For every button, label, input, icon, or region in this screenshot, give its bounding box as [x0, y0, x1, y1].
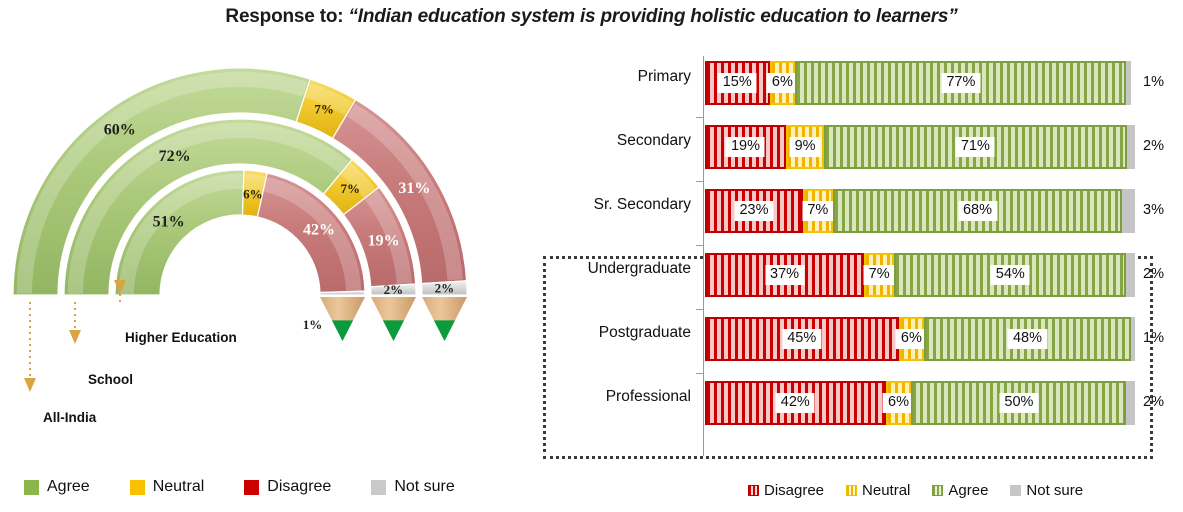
segment-agree: 71%: [824, 125, 1126, 169]
legend-item[interactable]: Agree: [932, 482, 988, 499]
segment-value: 9%: [790, 137, 821, 157]
not-sure-value: 2%: [1143, 394, 1164, 410]
segment-agree: 54%: [894, 253, 1126, 297]
segment-agree: 68%: [833, 189, 1122, 233]
page-title: Response to: “Indian education system is…: [0, 6, 1183, 28]
arc-segment-label: 2%: [384, 282, 404, 297]
not-sure-value: 3%: [1143, 202, 1164, 218]
legend-item[interactable]: Neutral: [130, 478, 205, 496]
segment-agree: 77%: [795, 61, 1126, 105]
legend-item[interactable]: Agree: [24, 478, 90, 496]
segment-neutral: 9%: [786, 125, 824, 169]
not-sure-value: 1%: [1143, 330, 1164, 346]
segment-value: 6%: [883, 393, 914, 413]
segment-disagree: 19%: [705, 125, 786, 169]
pencil-lead: [383, 320, 404, 341]
segment-value: 68%: [958, 201, 997, 221]
bar-row: Postgraduate45%6%48%1%: [543, 308, 1183, 370]
legend-item[interactable]: Not sure: [371, 478, 454, 496]
pencil-lead: [434, 320, 455, 341]
bar-row: Secondary19%9%71%2%: [543, 116, 1183, 178]
title-quote: “Indian education system is providing ho…: [348, 6, 957, 27]
segment-disagree: 15%: [705, 61, 770, 105]
segment-value: 15%: [718, 73, 757, 93]
legend-arc-chart: AgreeNeutralDisagreeNot sure: [24, 478, 495, 496]
arc-segment-label: 19%: [368, 233, 400, 250]
segment-agree: 50%: [911, 381, 1126, 425]
segment-value: 45%: [782, 329, 821, 349]
callout-higher-education: Higher Education: [125, 330, 237, 345]
arc-segment-label: 72%: [159, 148, 191, 165]
segment-value: 48%: [1008, 329, 1047, 349]
legend-swatch-icon: [371, 480, 386, 495]
segment-neutral: 7%: [864, 253, 894, 297]
segment-neutral: 7%: [803, 189, 833, 233]
axis-tick: [696, 245, 704, 246]
bar-chart: Primary15%6%77%1%Secondary19%9%71%2%Sr. …: [543, 52, 1183, 462]
segment-neutral: 6%: [886, 381, 912, 425]
arc-segment-label: 51%: [153, 213, 185, 230]
bar-row: Primary15%6%77%1%: [543, 52, 1183, 114]
segment-agree: 48%: [924, 317, 1130, 361]
segment-not-sure: [1131, 317, 1135, 361]
segment-value: 42%: [776, 393, 815, 413]
stacked-bar: 45%6%48%: [705, 317, 1135, 361]
legend-swatch-icon: [130, 480, 145, 495]
bar-row: Undergraduate37%7%54%2%: [543, 244, 1183, 306]
segment-not-sure: [1126, 381, 1135, 425]
legend-label: Neutral: [153, 478, 205, 496]
segment-value: 19%: [726, 137, 765, 157]
bar-row-label: Sr. Secondary: [543, 196, 691, 214]
axis-tick: [696, 181, 704, 182]
segment-neutral: 6%: [899, 317, 925, 361]
legend-item[interactable]: Not sure: [1010, 482, 1083, 499]
legend-swatch-icon: [1010, 485, 1021, 496]
bar-row-label: Postgraduate: [543, 324, 691, 342]
segment-not-sure: [1126, 61, 1130, 105]
pencil-lead: [332, 320, 353, 341]
legend-label: Not sure: [1026, 482, 1083, 499]
segment-value: 7%: [864, 265, 895, 285]
bar-row-label: Secondary: [543, 132, 691, 150]
legend-bar-chart: DisagreeNeutralAgreeNot sure: [748, 482, 1105, 499]
legend-swatch-icon: [748, 485, 759, 496]
bar-row: Professional42%6%50%2%: [543, 372, 1183, 434]
segment-disagree: 37%: [705, 253, 864, 297]
not-sure-value: 1%: [1143, 74, 1164, 90]
segment-not-sure: [1127, 125, 1136, 169]
arc-segment-label: 31%: [398, 180, 430, 197]
arc-segment-label: 7%: [314, 102, 334, 117]
bar-row-label: Primary: [543, 68, 691, 86]
segment-value: 37%: [765, 265, 804, 285]
arc-segment-label: 7%: [340, 181, 360, 196]
segment-value: 54%: [991, 265, 1030, 285]
arc-segment-label: 6%: [243, 186, 263, 201]
legend-swatch-icon: [846, 485, 857, 496]
segment-value: 50%: [999, 393, 1038, 413]
arc-segment-label: 1%: [303, 317, 323, 332]
segment-value: 23%: [734, 201, 773, 221]
arc-chart-svg: 51%6%42%72%7%19%2%60%7%31%2%1%: [0, 50, 580, 460]
axis-tick: [696, 309, 704, 310]
bar-row-label: Undergraduate: [543, 260, 691, 278]
segment-value: 77%: [941, 73, 980, 93]
segment-disagree: 45%: [705, 317, 899, 361]
segment-not-sure: [1122, 189, 1135, 233]
legend-item[interactable]: Disagree: [748, 482, 824, 499]
segment-disagree: 23%: [705, 189, 803, 233]
legend-label: Agree: [948, 482, 988, 499]
legend-label: Disagree: [267, 478, 331, 496]
not-sure-value: 2%: [1143, 266, 1164, 282]
segment-value: 6%: [896, 329, 927, 349]
arc-segment-label: 2%: [435, 281, 455, 296]
stacked-bar: 23%7%68%: [705, 189, 1135, 233]
legend-label: Disagree: [764, 482, 824, 499]
stacked-bar: 37%7%54%: [705, 253, 1135, 297]
legend-item[interactable]: Disagree: [244, 478, 331, 496]
legend-label: Agree: [47, 478, 90, 496]
arc-segment-label: 60%: [104, 122, 136, 139]
stacked-bar: 19%9%71%: [705, 125, 1135, 169]
stacked-bar: 15%6%77%: [705, 61, 1135, 105]
legend-item[interactable]: Neutral: [846, 482, 910, 499]
not-sure-value: 2%: [1143, 138, 1164, 154]
segment-neutral: 6%: [770, 61, 796, 105]
title-prefix: Response to:: [225, 6, 348, 27]
segment-value: 7%: [802, 201, 833, 221]
callout-school: School: [88, 372, 133, 387]
legend-swatch-icon: [24, 480, 39, 495]
legend-swatch-icon: [244, 480, 259, 495]
bar-row-label: Professional: [543, 388, 691, 406]
segment-value: 6%: [767, 73, 798, 93]
legend-label: Not sure: [394, 478, 454, 496]
arc-segment-label: 42%: [303, 222, 335, 239]
pencil-tips: [320, 297, 467, 341]
axis-tick: [696, 373, 704, 374]
callout-all-india: All-India: [43, 410, 96, 425]
arc-chart: 51%6%42%72%7%19%2%60%7%31%2%1% All-India…: [0, 50, 580, 460]
bar-row: Sr. Secondary23%7%68%3%: [543, 180, 1183, 242]
axis-tick: [696, 117, 704, 118]
legend-swatch-icon: [932, 485, 943, 496]
segment-not-sure: [1126, 253, 1135, 297]
legend-label: Neutral: [862, 482, 910, 499]
stacked-bar: 42%6%50%: [705, 381, 1135, 425]
segment-disagree: 42%: [705, 381, 886, 425]
segment-value: 71%: [956, 137, 995, 157]
